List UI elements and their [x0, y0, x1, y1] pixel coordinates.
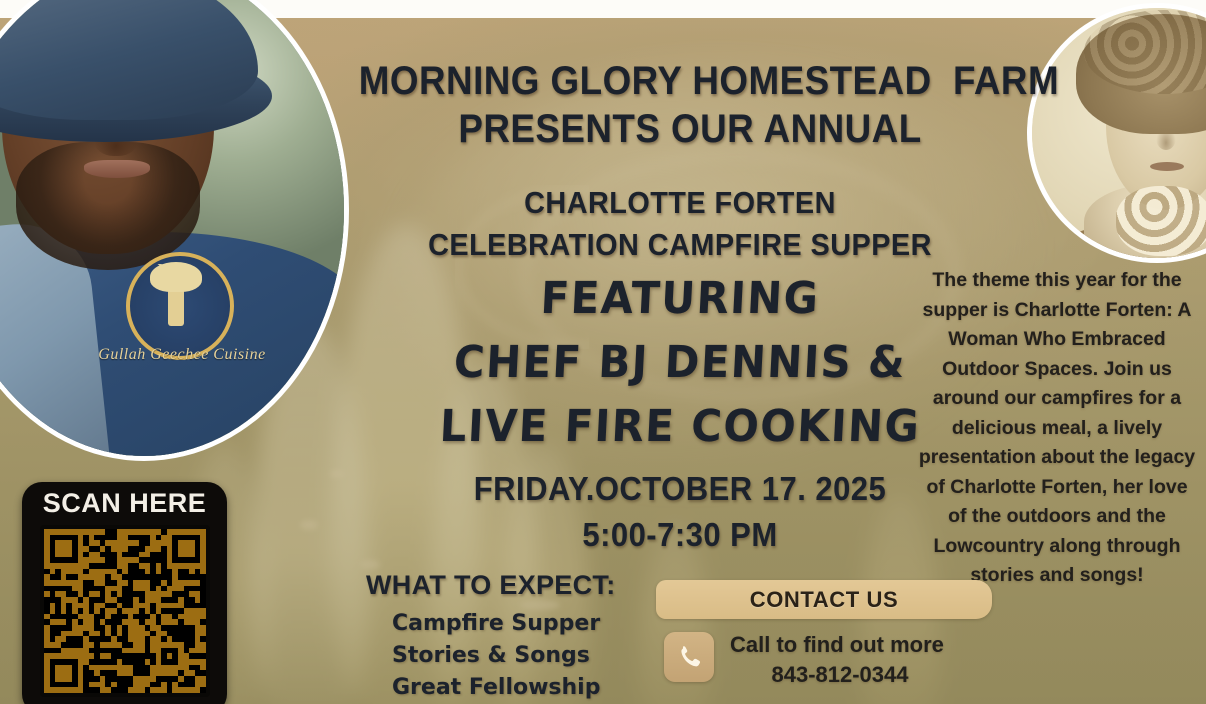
phone-number: 843-812-0344	[730, 660, 950, 690]
event-time: 5:00-7:30 PM	[436, 512, 925, 557]
event-date: FRIDAY.OCTOBER 17. 2025	[436, 466, 925, 511]
call-prompt: Call to find out more	[730, 630, 1020, 660]
contact-us-label: CONTACT US	[656, 580, 992, 619]
list-item: Stories & Songs	[392, 640, 590, 672]
subheadline-line-2: CELEBRATION CAMPFIRE SUPPER	[420, 226, 941, 264]
qr-modules	[44, 529, 206, 693]
portrait-mouth	[1150, 162, 1184, 171]
chef-mouth	[84, 160, 150, 178]
featured-chef: CHEF BJ DENNIS &	[412, 332, 947, 394]
event-poster: Gullah Geechee Cuisine MORNING GLORY HOM…	[0, 0, 1206, 704]
qr-code-icon[interactable]	[40, 525, 210, 697]
list-item: Campfire Supper	[392, 608, 600, 640]
event-description: The theme this year for the supper is Ch…	[916, 266, 1198, 591]
headline-line-2: PRESENTS OUR ANNUAL	[359, 106, 1021, 152]
charlotte-forten-portrait	[1032, 8, 1206, 258]
portrait-lace-ruffle	[1116, 186, 1206, 256]
call-info: Call to find out more 843-812-0344	[730, 630, 1020, 690]
jacket-logo-text: Gullah Geechee Cuisine	[96, 346, 268, 364]
scan-here-label: SCAN HERE	[22, 488, 227, 519]
what-to-expect-title: WHAT TO EXPECT:	[366, 570, 616, 601]
featuring-label: FEATURING	[431, 268, 928, 330]
contact-us-banner: CONTACT US	[656, 580, 992, 619]
headline-line-1: MORNING GLORY HOMESTEAD FARM	[359, 58, 1021, 104]
scan-here-card[interactable]: SCAN HERE	[22, 482, 227, 704]
phone-icon	[664, 632, 714, 682]
featured-activity: LIVE FIRE COOKING	[412, 396, 947, 458]
crescent-moon-icon	[148, 264, 162, 278]
chef-bucket-hat	[0, 0, 258, 120]
chef-portrait: Gullah Geechee Cuisine	[0, 0, 344, 456]
list-item: Great Fellowship	[392, 672, 600, 704]
subheadline-line-1: CHARLOTTE FORTEN	[420, 184, 941, 222]
